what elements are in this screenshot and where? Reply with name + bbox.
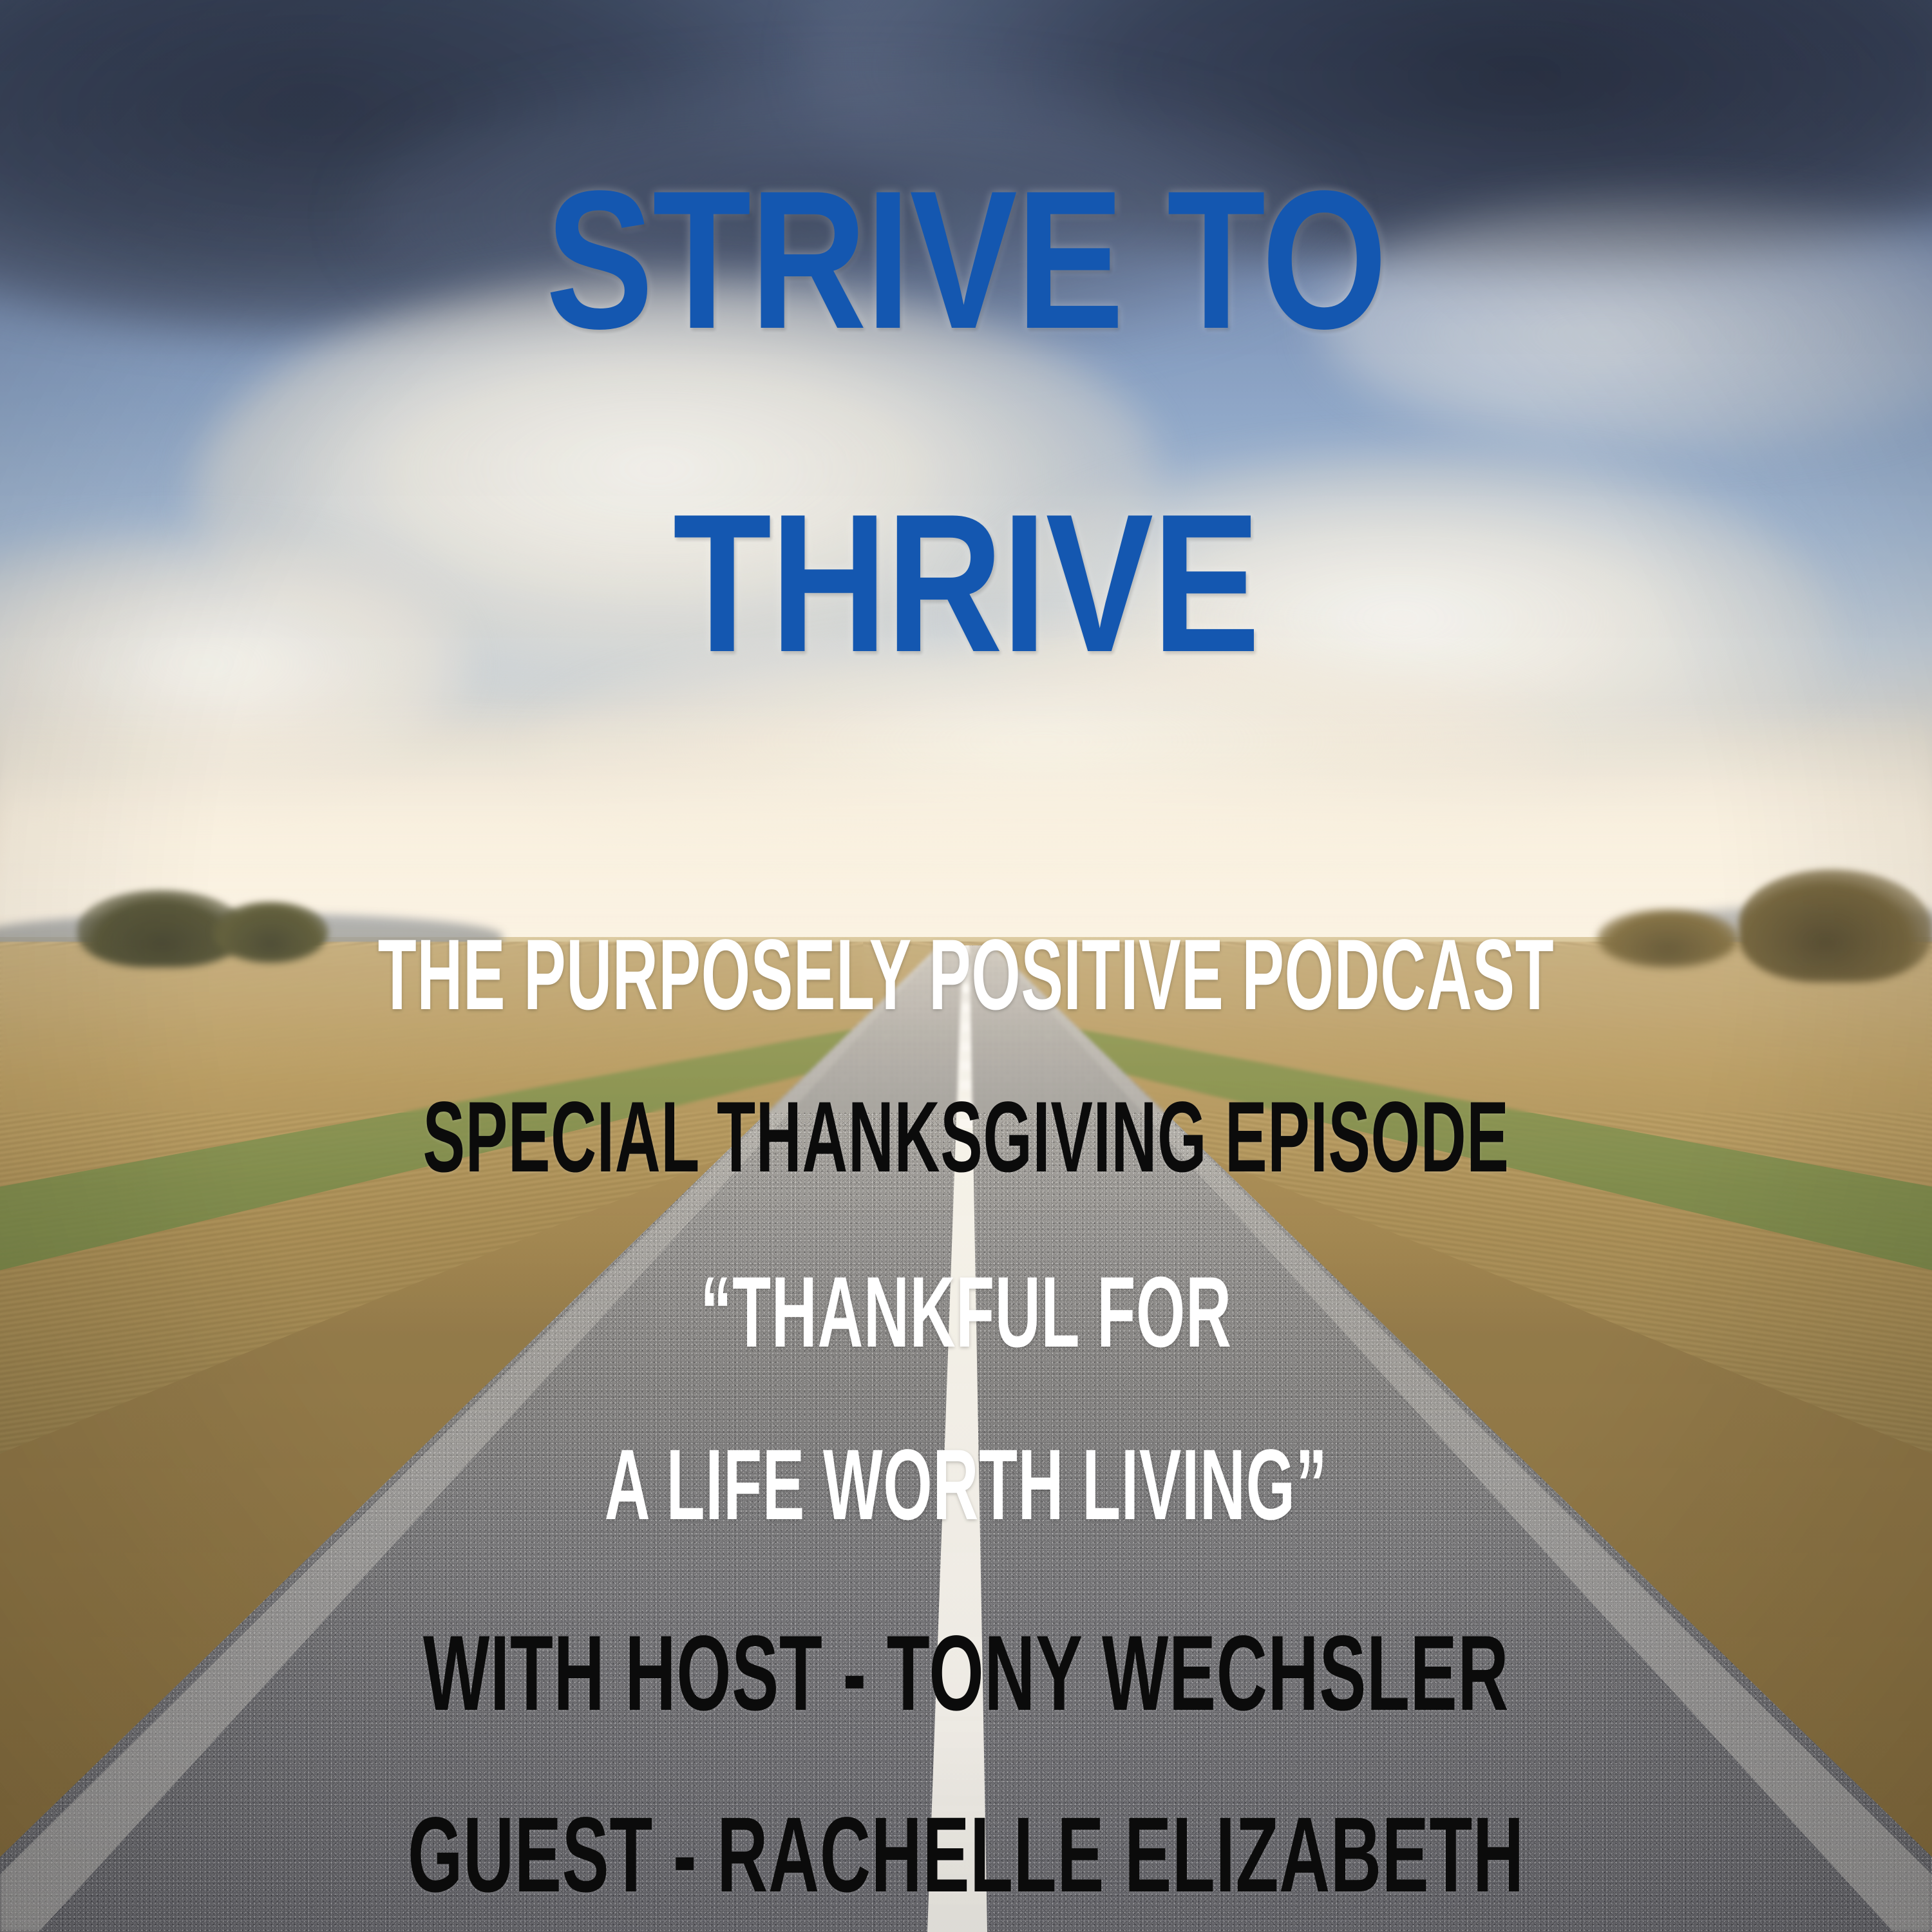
host-credit: WITH HOST - TONY WECHSLER — [328, 1620, 1604, 1727]
episode-label: SPECIAL THANKSGIVING EPISODE — [357, 1087, 1575, 1188]
show-title-line-2: THRIVE — [174, 484, 1758, 681]
episode-title-line-2: A LIFE WORTH LIVING” — [357, 1435, 1575, 1535]
show-title-line-1: STRIVE TO — [174, 161, 1758, 358]
text-overlay: STRIVE TO THRIVE THE PURPOSELY POSITIVE … — [0, 0, 1932, 1932]
podcast-cover-art: STRIVE TO THRIVE THE PURPOSELY POSITIVE … — [0, 0, 1932, 1932]
guest-credit: GUEST - RACHELLE ELIZABETH — [328, 1802, 1604, 1909]
show-subtitle: THE PURPOSELY POSITIVE PODCAST — [357, 925, 1575, 1025]
episode-title-line-1: “THANKFUL FOR — [357, 1262, 1575, 1363]
